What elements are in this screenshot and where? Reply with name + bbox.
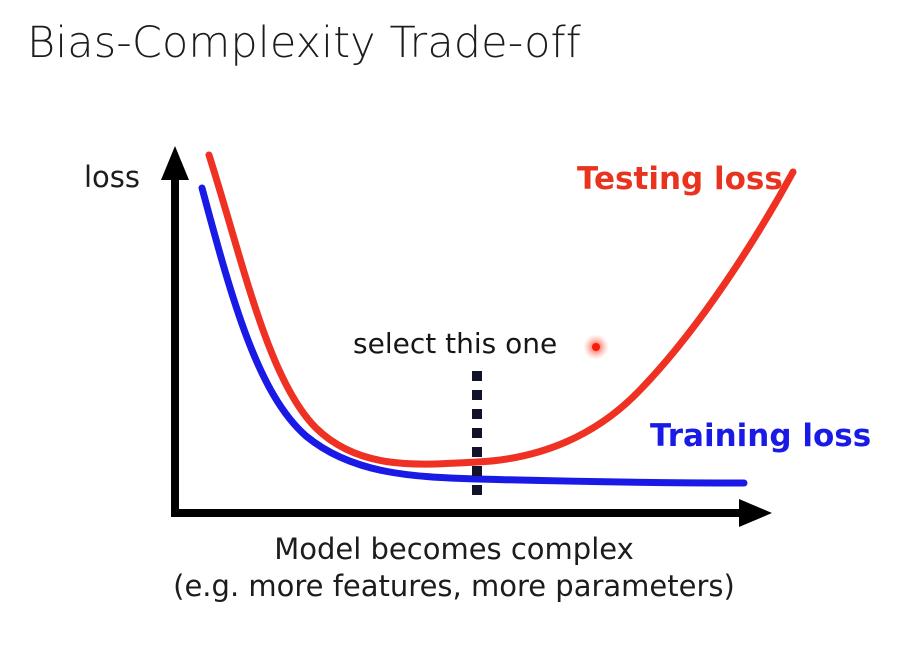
slide-canvas: Bias-Complexity Trade-off	[0, 0, 908, 654]
y-axis-label: loss	[84, 160, 140, 194]
x-axis-caption: Model becomes complex (e.g. more feature…	[0, 531, 908, 605]
laser-pointer-dot-icon	[584, 335, 608, 359]
y-axis-arrowhead	[161, 146, 189, 180]
x-axis-caption-line-1: Model becomes complex	[0, 531, 908, 568]
x-axis-caption-line-2: (e.g. more features, more parameters)	[0, 568, 908, 605]
x-axis-arrowhead	[739, 499, 772, 527]
series-label-training-loss: Training loss	[650, 418, 871, 454]
series-label-testing-loss: Testing loss	[577, 161, 783, 197]
bias-complexity-figure: loss Testing loss Training loss select t…	[0, 0, 908, 654]
annotation-select-this-one: select this one	[353, 327, 557, 360]
